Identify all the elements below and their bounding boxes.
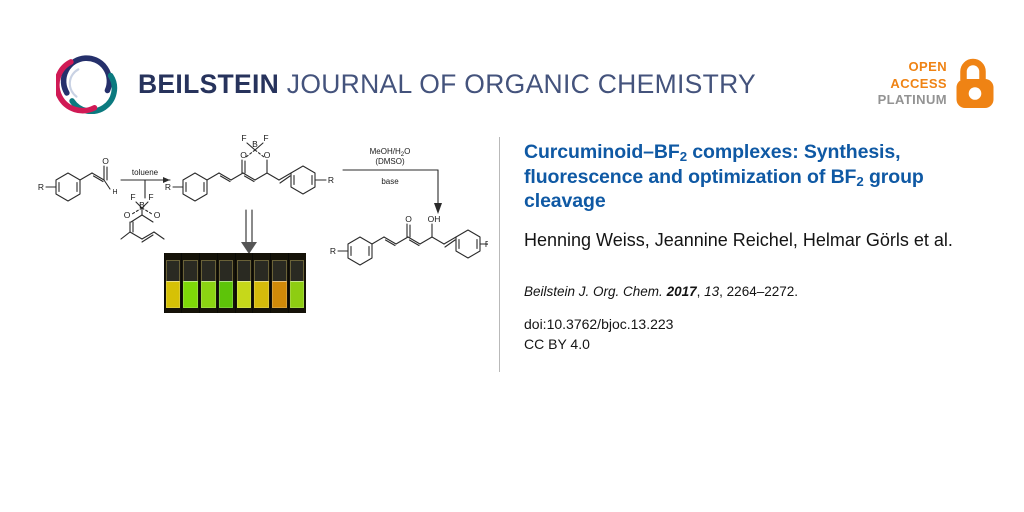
label-B-reagent: B	[139, 200, 145, 210]
label-OH-product2: OH	[428, 214, 441, 224]
vial-liquid	[237, 281, 251, 308]
citation-journal: Beilstein J. Org. Chem.	[524, 284, 663, 299]
label-O-product2: O	[405, 214, 412, 224]
label-H-aldehyde: H	[112, 189, 117, 196]
open-access-text: OPEN ACCESS PLATINUM	[878, 59, 947, 109]
oa-line-access: ACCESS	[878, 76, 947, 93]
title-subscript-1: 2	[680, 149, 687, 164]
vial-4	[218, 253, 235, 313]
article-doi[interactable]: doi:10.3762/bjoc.13.223	[524, 314, 976, 334]
article-metadata-panel: Curcuminoid–BF2 complexes: Synthesis, fl…	[524, 140, 976, 354]
journal-wordmark: BEILSTEIN JOURNAL OF ORGANIC CHEMISTRY	[138, 69, 756, 98]
label-base: base	[381, 177, 399, 186]
vial-8	[289, 253, 306, 313]
vial-cap	[254, 260, 268, 282]
vial-cap	[219, 260, 233, 282]
label-R-product1-right: R	[328, 175, 334, 185]
label-F-product1-left: F	[241, 133, 246, 143]
vial-liquid	[254, 281, 268, 308]
vial-6	[253, 253, 270, 313]
label-R-product1-left: R	[165, 182, 171, 192]
article-citation: Beilstein J. Org. Chem. 2017, 13, 2264–2…	[524, 283, 976, 301]
label-solvent-dmso: (DMSO)	[375, 157, 405, 166]
vial-cap	[201, 260, 215, 282]
vial-1	[165, 253, 182, 313]
label-O-product1-left: O	[240, 150, 247, 160]
title-subscript-2: 2	[856, 174, 863, 189]
beilstein-swirl-logo-icon	[56, 52, 118, 114]
vial-cap	[272, 260, 286, 282]
vial-2	[182, 253, 199, 313]
open-padlock-icon	[954, 58, 996, 110]
label-F-reagent-left: F	[130, 192, 135, 202]
vial-cap	[290, 260, 304, 282]
vial-liquid	[219, 281, 233, 308]
label-B-product1: B	[252, 139, 258, 149]
label-R-product2-left: R	[330, 246, 336, 256]
open-access-badge[interactable]: OPEN ACCESS PLATINUM	[878, 58, 996, 110]
label-toluene: toluene	[132, 168, 159, 177]
oa-line-open: OPEN	[878, 59, 947, 76]
citation-pages: 2264–2272.	[727, 284, 798, 299]
label-F-product1-right: F	[263, 133, 268, 143]
vial-7	[271, 253, 288, 313]
label-O-aldehyde: O	[102, 156, 109, 166]
vertical-divider	[499, 137, 500, 372]
vial-5	[236, 253, 253, 313]
vial-liquid	[183, 281, 197, 308]
oa-line-platinum: PLATINUM	[878, 92, 947, 109]
journal-logo-group[interactable]: BEILSTEIN JOURNAL OF ORGANIC CHEMISTRY	[56, 52, 756, 114]
fluorescent-vials-photo	[164, 253, 306, 313]
label-R-product2-right: R	[485, 239, 488, 249]
wordmark-subtitle: JOURNAL OF ORGANIC CHEMISTRY	[279, 69, 756, 99]
article-license[interactable]: CC BY 4.0	[524, 334, 976, 354]
vial-liquid	[201, 281, 215, 308]
vial-cap	[166, 260, 180, 282]
vial-3	[200, 253, 217, 313]
vial-liquid	[290, 281, 304, 308]
wordmark-beilstein: BEILSTEIN	[138, 69, 279, 99]
label-F-reagent-right: F	[148, 192, 153, 202]
article-authors: Henning Weiss, Jeannine Reichel, Helmar …	[524, 228, 976, 254]
article-title[interactable]: Curcuminoid–BF2 complexes: Synthesis, fl…	[524, 140, 976, 214]
title-segment-1: Curcuminoid–BF	[524, 141, 680, 163]
masthead-header: BEILSTEIN JOURNAL OF ORGANIC CHEMISTRY O…	[0, 0, 1024, 140]
vial-cap	[183, 260, 197, 282]
vial-liquid	[272, 281, 286, 308]
label-R-reactant: R	[38, 182, 44, 192]
citation-year: 2017	[667, 284, 697, 299]
citation-volume: 13	[704, 284, 719, 299]
label-O-reagent-left: O	[124, 210, 131, 220]
vial-cap	[237, 260, 251, 282]
label-O-reagent-right: O	[154, 210, 161, 220]
label-O-product1-right: O	[264, 150, 271, 160]
vial-liquid	[166, 281, 180, 308]
